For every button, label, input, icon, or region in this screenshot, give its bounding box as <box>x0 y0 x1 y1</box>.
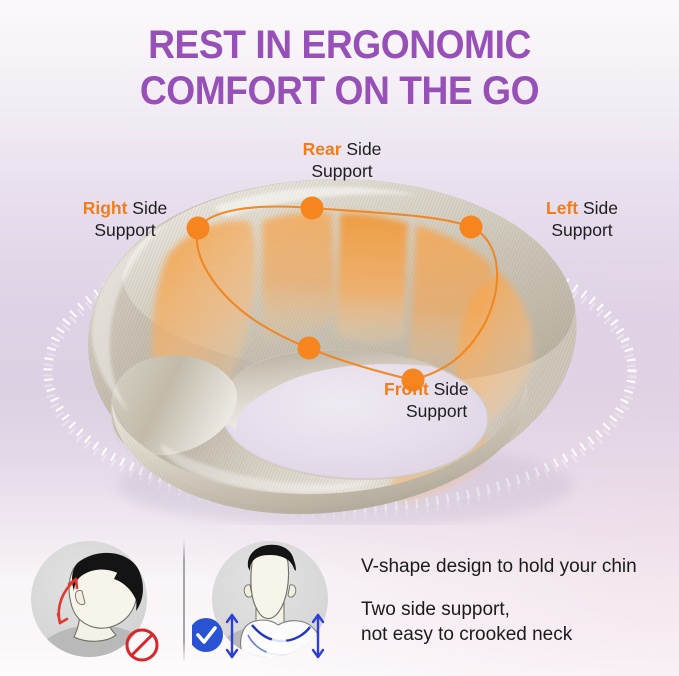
callout-left-line-1: Left Side <box>492 197 672 219</box>
callout-rear-line-1: Rear Side <box>247 138 437 160</box>
no-entry-icon <box>127 630 157 660</box>
callout-left-side-support: Left Side Support <box>492 197 672 241</box>
callout-front-line-1: Front Side <box>384 378 574 400</box>
callout-rear-accent: Rear <box>303 139 342 159</box>
page-title-line-1: REST IN ERGONOMIC <box>148 23 531 67</box>
comparison-figure-bad <box>22 533 174 669</box>
callout-right-rest: Side <box>127 198 167 218</box>
comparison-divider <box>183 539 185 663</box>
benefit-line-2a: Two side support, <box>361 597 572 622</box>
benefit-line-2b: not easy to crooked neck <box>361 622 572 647</box>
benefit-line-1: V-shape design to hold your chin <box>361 554 637 579</box>
callout-front-rest: Side <box>429 379 469 399</box>
bad-posture-illustration <box>22 533 174 669</box>
callout-left-rest: Side <box>578 198 618 218</box>
support-dot-rear <box>301 197 324 220</box>
callout-left-accent: Left <box>546 198 578 218</box>
page-title: REST IN ERGONOMIC COMFORT ON THE GO <box>24 22 655 114</box>
page-title-line-2: COMFORT ON THE GO <box>24 68 655 114</box>
infographic-page: REST IN ERGONOMIC COMFORT ON THE GO <box>0 0 679 676</box>
callout-left-line-2: Support <box>492 219 672 241</box>
callout-front-accent: Front <box>384 379 429 399</box>
callout-rear-line-2: Support <box>247 160 437 182</box>
support-dot-left <box>460 216 483 239</box>
callout-right-accent: Right <box>83 198 128 218</box>
callout-right-line-1: Right Side <box>30 197 220 219</box>
benefit-text-1: V-shape design to hold your chin <box>361 554 637 579</box>
callout-rear-rest: Side <box>342 139 382 159</box>
comparison-section <box>0 525 679 676</box>
callout-right-line-2: Support <box>30 219 220 241</box>
callout-rear-side-support: Rear Side Support <box>247 138 437 182</box>
comparison-figure-good <box>192 533 344 669</box>
callout-front-line-2: Support <box>384 400 574 422</box>
benefit-text-2: Two side support, not easy to crooked ne… <box>361 597 572 647</box>
callout-front-side-support: Front Side Support <box>384 378 574 422</box>
support-dot-mid <box>298 337 321 360</box>
callout-right-side-support: Right Side Support <box>30 197 220 241</box>
good-posture-illustration <box>192 533 344 669</box>
